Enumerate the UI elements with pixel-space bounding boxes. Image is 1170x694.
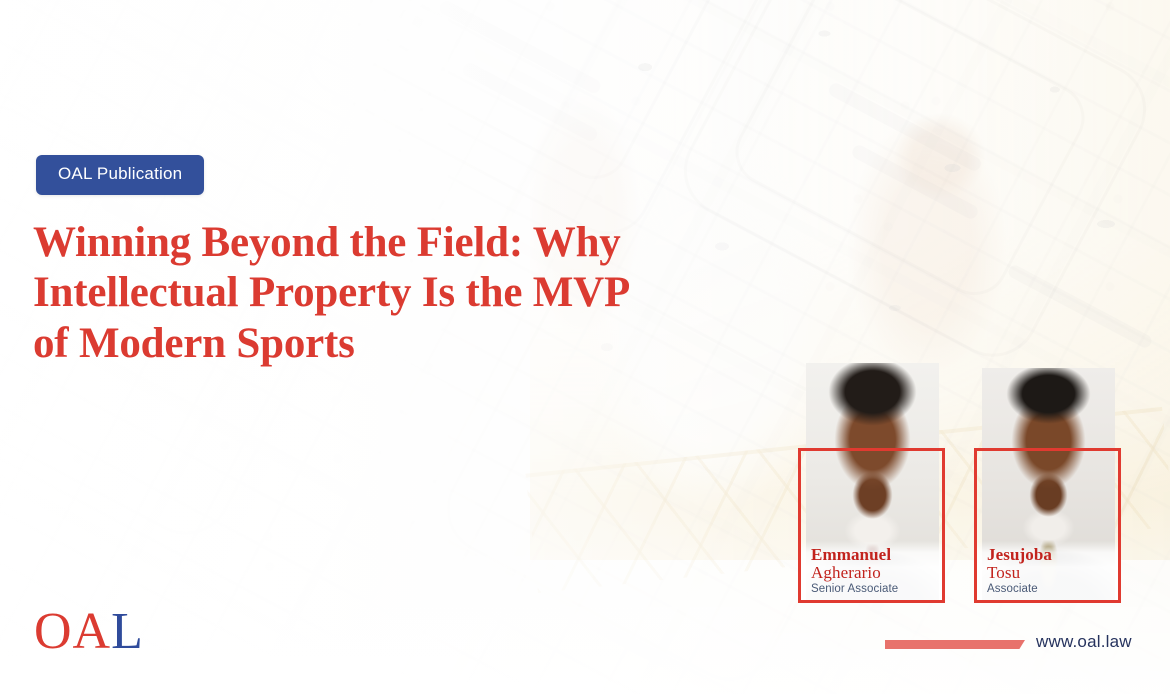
- page-title: Winning Beyond the Field: Why Intellectu…: [33, 218, 733, 369]
- website-url: www.oal.law: [1036, 632, 1132, 652]
- person-first-name: Emmanuel: [811, 546, 898, 563]
- logo-text-secondary: L: [111, 603, 144, 660]
- person-name-block: Jesujoba Tosu Associate: [987, 546, 1052, 596]
- headline-line-2: Intellectual Property Is the MVP: [33, 269, 630, 316]
- person-name-block: Emmanuel Agherario Senior Associate: [811, 546, 898, 596]
- oal-logo: OAL: [34, 606, 144, 658]
- headline-line-1: Winning Beyond the Field: Why: [33, 219, 621, 266]
- publication-banner: OAL Publication Winning Beyond the Field…: [0, 0, 1170, 694]
- person-role: Senior Associate: [811, 584, 898, 596]
- person-last-name: Agherario: [811, 564, 898, 581]
- headline-line-3: of Modern Sports: [33, 320, 355, 367]
- person-role: Associate: [987, 584, 1052, 596]
- person-first-name: Jesujoba: [987, 546, 1052, 563]
- footer-rule: [885, 640, 1025, 649]
- publication-badge: OAL Publication: [36, 155, 204, 195]
- person-last-name: Tosu: [987, 564, 1052, 581]
- logo-text-primary: OA: [34, 603, 111, 660]
